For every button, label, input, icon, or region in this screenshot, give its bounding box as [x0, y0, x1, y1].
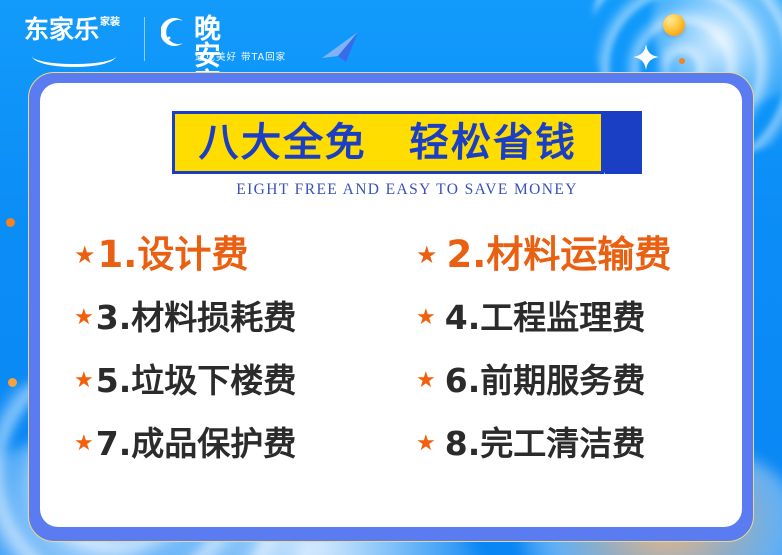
paper-plane-icon — [316, 28, 362, 68]
benefits-card-inner: 八大全免 轻松省钱 EIGHT FREE AND EASY TO SAVE MO… — [40, 83, 742, 527]
benefit-index: 5. — [96, 364, 132, 397]
logo-divider — [144, 17, 145, 61]
star-icon: ★ — [416, 243, 438, 267]
benefit-index: 1. — [98, 236, 138, 273]
benefit-label: 材料运输费 — [486, 236, 671, 273]
benefit-index: 3. — [96, 301, 132, 334]
benefit-item-7: ★ 7. 成品保护费 — [74, 427, 404, 460]
orange-dot-icon — [679, 58, 685, 64]
star-icon: ★ — [416, 307, 436, 329]
star-icon: ★ — [74, 433, 94, 455]
star-icon: ★ — [74, 307, 94, 329]
banner-body: 八大全免 轻松省钱 — [172, 111, 604, 174]
star-icon: ★ — [74, 370, 94, 392]
benefit-item-6: ★ 6. 前期服务费 — [404, 364, 724, 397]
benefit-index: 7. — [96, 427, 132, 460]
logo-wananjiaju-tagline: 遇见美好 带TA回家 — [195, 49, 286, 63]
orange-dot-icon — [8, 378, 17, 387]
benefit-item-1: ★ 1. 设计费 — [74, 236, 404, 273]
logo-dongjiale-text: 东家乐 — [24, 17, 99, 42]
benefits-list: ★ 1. 设计费 ★ 2. 材料运输费 ★ 3. 材料损耗费 ★ 4. — [74, 223, 724, 475]
benefit-index: 4. — [445, 301, 481, 334]
benefit-label: 成品保护费 — [131, 427, 296, 460]
headline-subtitle: EIGHT FREE AND EASY TO SAVE MONEY — [172, 181, 642, 199]
benefit-index: 2. — [447, 236, 487, 273]
benefit-label: 完工清洁费 — [480, 427, 645, 460]
benefit-index: 8. — [445, 427, 481, 460]
logo-dongjiale-superscript: 家装 — [100, 17, 122, 28]
smile-curve-icon — [32, 44, 116, 67]
benefits-card: 八大全免 轻松省钱 EIGHT FREE AND EASY TO SAVE MO… — [28, 72, 754, 542]
orange-sphere-icon — [663, 14, 685, 36]
star-icon: ★ — [416, 370, 436, 392]
four-point-star-icon — [633, 44, 659, 70]
orange-dot-icon — [6, 218, 15, 227]
logo-bar: 东家乐 家装 晚安家居 遇见美好 带TA回家 — [22, 10, 161, 68]
benefit-label: 前期服务费 — [480, 364, 645, 397]
benefit-item-4: ★ 4. 工程监理费 — [404, 301, 724, 334]
star-icon: ★ — [416, 433, 436, 455]
benefit-label: 工程监理费 — [480, 301, 645, 334]
benefit-label: 设计费 — [137, 236, 248, 273]
benefit-item-5: ★ 5. 垃圾下楼费 — [74, 364, 404, 397]
benefit-item-3: ★ 3. 材料损耗费 — [74, 301, 404, 334]
benefit-label: 垃圾下楼费 — [131, 364, 296, 397]
benefit-index: 6. — [445, 364, 481, 397]
logo-dongjiale[interactable]: 东家乐 家装 — [22, 11, 130, 67]
star-icon: ★ — [74, 243, 96, 267]
benefit-label: 材料损耗费 — [131, 301, 296, 334]
promo-poster: 东家乐 家装 晚安家居 遇见美好 带TA回家 — [0, 0, 782, 555]
headline-banner: 八大全免 轻松省钱 — [172, 111, 642, 174]
headline-title: 八大全免 轻松省钱 — [198, 123, 577, 163]
crescent-moon-stars-icon — [161, 17, 191, 47]
benefit-item-8: ★ 8. 完工清洁费 — [404, 427, 724, 460]
benefit-item-2: ★ 2. 材料运输费 — [404, 236, 724, 273]
